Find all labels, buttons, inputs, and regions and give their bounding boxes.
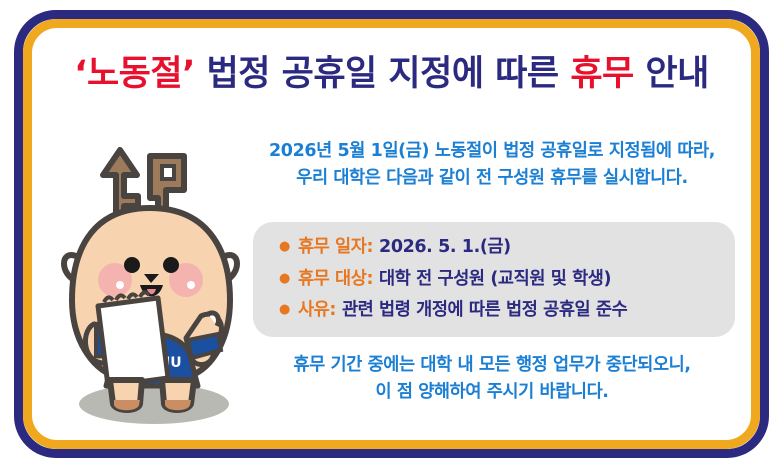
list-item: ● 휴무 대상: 대학 전 구성원 (교직원 및 학생) xyxy=(253,264,735,296)
mascot-antler-notch xyxy=(162,166,174,179)
closing-line-2: 이 점 양해하여 주시기 바랍니다. xyxy=(238,379,746,406)
title-segment-notice: 안내 xyxy=(634,54,709,94)
title-segment-holiday: 휴무 xyxy=(570,54,633,94)
bullet-label-date: 휴무 일자: xyxy=(298,234,373,262)
bullet-dot-icon: ● xyxy=(279,303,290,316)
details-panel: ● 휴무 일자: 2026. 5. 1.(금) ● 휴무 대상: 대학 전 구성… xyxy=(253,222,735,337)
title-segment-labor-day: ‘노동절’ xyxy=(74,54,195,94)
list-item: ● 사유: 관련 법령 개정에 따른 법정 공휴일 준수 xyxy=(253,295,735,327)
mascot-shadow xyxy=(79,384,229,424)
list-item: ● 휴무 일자: 2026. 5. 1.(금) xyxy=(253,232,735,264)
mascot-eye-right xyxy=(163,257,179,273)
mascot-eye-left xyxy=(124,257,140,273)
title-segment-designation: 법정 공휴일 지정에 따른 xyxy=(195,54,570,94)
intro-line-2: 우리 대학은 다음과 같이 전 구성원 휴무를 실시합니다. xyxy=(238,165,746,192)
announcement-poster: ‘노동절’ 법정 공휴일 지정에 따른 휴무 안내 xyxy=(0,0,783,468)
bullet-label-reason: 사유: xyxy=(298,297,336,325)
intro-paragraph: 2026년 5월 1일(금) 노동절이 법정 공휴일로 지정됨에 따라, 우리 … xyxy=(238,138,746,192)
bullet-value-reason: 관련 법령 개정에 따른 법정 공휴일 준수 xyxy=(342,297,627,325)
mascot-illustration: SMU xyxy=(58,128,243,440)
closing-paragraph: 휴무 기간 중에는 대학 내 모든 행정 업무가 중단되오니, 이 점 양해하여… xyxy=(238,352,746,406)
mascot-antler-left xyxy=(103,150,138,216)
bullet-dot-icon: ● xyxy=(279,272,290,285)
bullet-dot-icon: ● xyxy=(279,240,290,253)
intro-line-1: 2026년 5월 1일(금) 노동절이 법정 공휴일로 지정됨에 따라, xyxy=(238,138,746,165)
mascot-notepad xyxy=(98,298,168,386)
mascot-cheek-highlight-left xyxy=(116,281,124,289)
bullet-label-target: 휴무 대상: xyxy=(298,266,373,294)
closing-line-1: 휴무 기간 중에는 대학 내 모든 행정 업무가 중단되오니, xyxy=(238,352,746,379)
mascot-cheek-highlight-right xyxy=(187,281,195,289)
page-title: ‘노동절’ 법정 공휴일 지정에 따른 휴무 안내 xyxy=(40,54,743,94)
bullet-value-date: 2026. 5. 1.(금) xyxy=(379,234,511,262)
bullet-value-target: 대학 전 구성원 (교직원 및 학생) xyxy=(379,266,611,294)
